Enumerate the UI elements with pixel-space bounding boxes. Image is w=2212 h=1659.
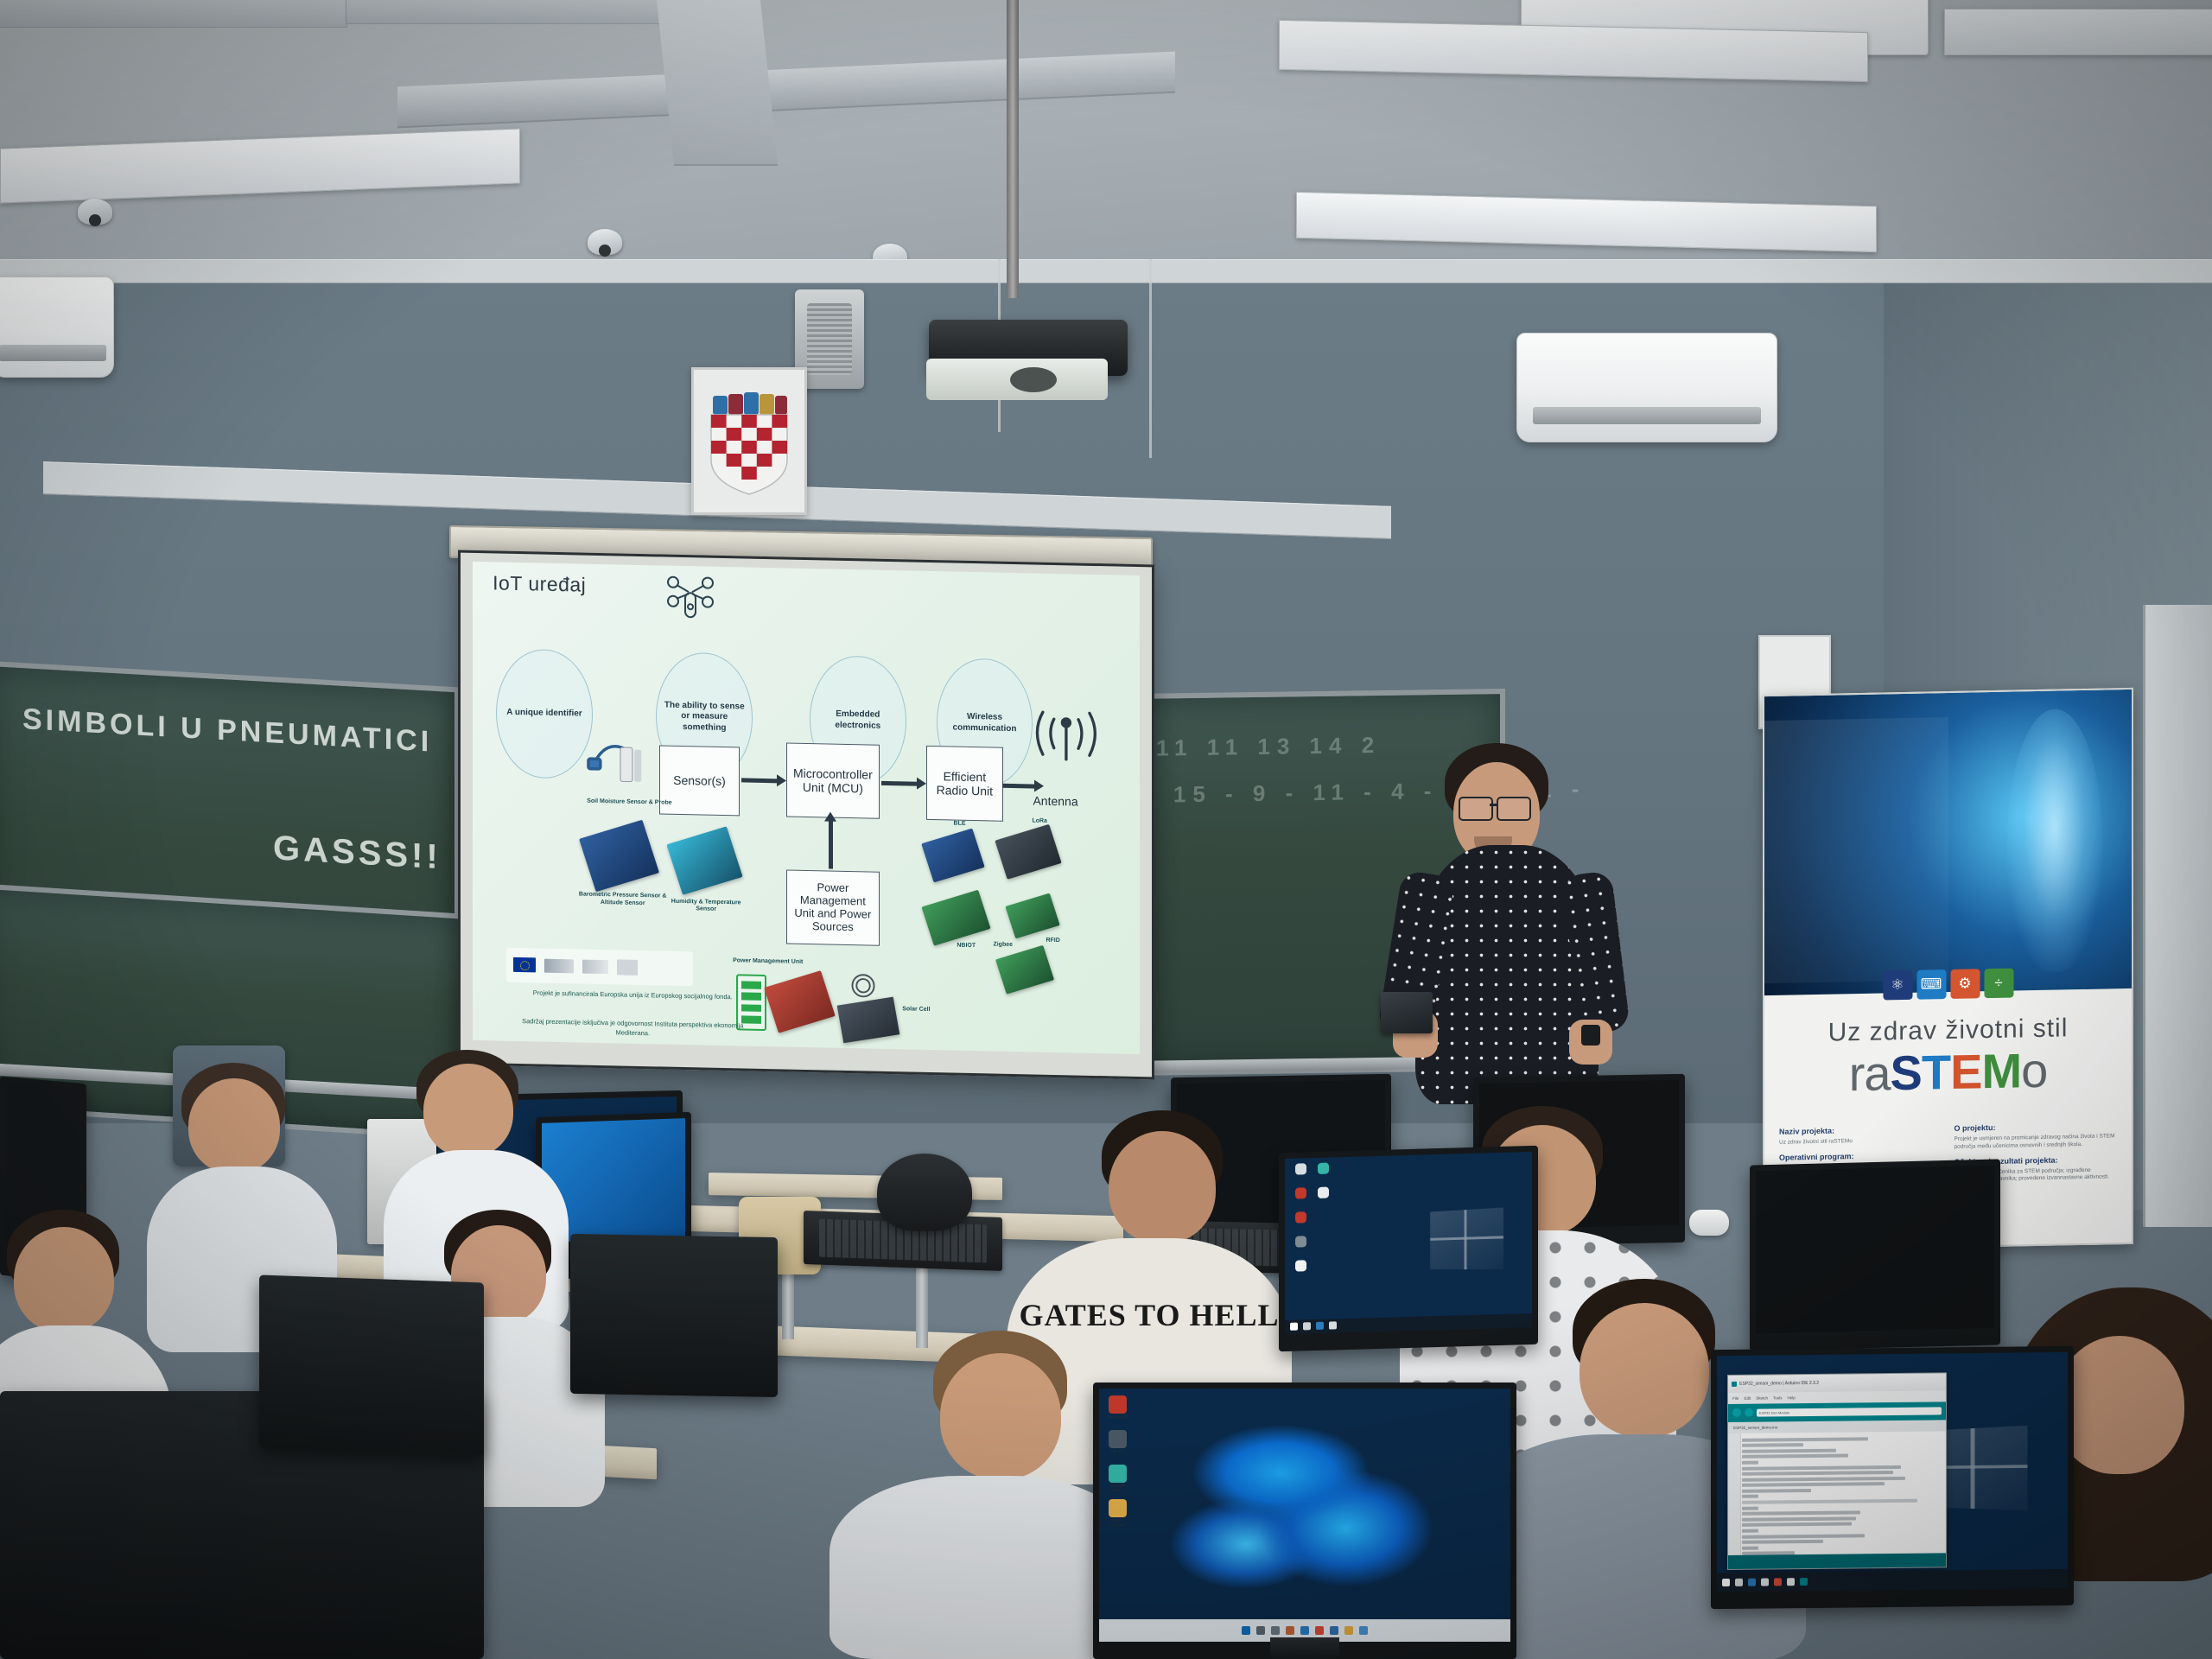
upload-button[interactable] [1745,1408,1753,1417]
arduino-taskbar-icon[interactable] [1800,1578,1808,1586]
menu-file[interactable]: File [1732,1396,1738,1401]
explorer-icon[interactable] [1344,1626,1353,1635]
wall-trim [0,259,2212,283]
monitor-rear-shell [570,1234,778,1397]
desktop-icon[interactable] [1290,1211,1311,1224]
task-view-icon[interactable] [1271,1626,1280,1635]
slide-caption-rfid: RFID [1027,937,1080,945]
slide-antenna-label: Antenna [1033,793,1077,808]
presenter [1400,743,1624,1106]
security-camera-icon [78,199,112,225]
air-conditioner [1516,333,1777,442]
barometric-sensor-image [579,819,659,891]
classroom-door[interactable] [2143,605,2212,1227]
start-icon[interactable] [1242,1626,1250,1635]
edge-icon[interactable] [1748,1578,1756,1586]
slide-caption-zigbee: Zigbee [980,941,1027,950]
slide-caption-ble: BLE [933,820,987,829]
technology-icon: ⌨ [1916,969,1946,1000]
poster-brand: raSTEMo [1764,1040,2132,1103]
poster-heading-about: O projektu: [1955,1121,2118,1133]
board-selector[interactable]: ESP32 Dev Module [1757,1407,1942,1416]
science-icon: ⚛ [1883,970,1912,1001]
stem-icon-row: ⚛ ⌨ ⚙ ÷ [1883,969,2013,1001]
teams-icon[interactable]: Microsoft Teams [1107,1465,1128,1493]
glasses-bridge [1490,804,1498,806]
tshirt-text: GATES TO HELL [1007,1297,1292,1333]
menu-help[interactable]: Help [1787,1395,1795,1400]
start-icon[interactable] [1722,1579,1730,1586]
poster-brand-suffix: o [2021,1043,2047,1098]
ide-toolbar[interactable]: ESP32 Dev Module [1728,1402,1946,1422]
student-head [1580,1303,1709,1437]
ide-code-editor[interactable] [1728,1431,1946,1555]
glasses-left-lens [1459,797,1493,821]
ide-line-numbers [1728,1433,1741,1555]
store-icon[interactable] [1330,1626,1338,1635]
arduino-icon [1732,1382,1737,1387]
blackboard-text-line1: SIMBOLI U PNEUMATICI [22,702,432,760]
croatian-coat-of-arms [691,367,807,515]
desktop-icon[interactable] [1290,1187,1311,1199]
ide-window-title: ESP32_sensor_demo | Arduino IDE 2.3.2 [1739,1381,1819,1387]
headphones[interactable] [877,1154,972,1231]
widgets-icon[interactable] [1286,1626,1294,1635]
this-pc-icon[interactable]: This PC [1107,1430,1128,1454]
monitor-student-right[interactable] [1279,1146,1538,1351]
partner-logo [582,960,608,975]
ceiling-tile [346,0,676,24]
air-conditioner [0,276,114,378]
security-camera-icon [588,229,622,255]
windows10-taskbar[interactable] [1717,1569,2068,1592]
slide-footer-disclaimer: Sadržaj prezentacije isključiva je odgov… [512,1017,753,1041]
poster-heading-program: Operativni program: [1779,1150,1942,1162]
slide-bubble-identifier: A unique identifier [496,648,593,779]
ide-titlebar[interactable]: ESP32_sensor_demo | Arduino IDE 2.3.2 [1728,1373,1946,1393]
poster-brand-e: E [1950,1045,1981,1100]
humidity-sensor-image [666,826,743,895]
eu-funding-logos [506,948,694,987]
coat-of-arms-svg [706,385,792,498]
blackboard-faint-line1: 11 11 13 14 2 [1156,732,1381,762]
slide-caption-soil: Soil Moisture Sensor & Probe [582,798,676,808]
desktop-icon[interactable] [1290,1163,1311,1175]
icon-label: Radni materijali [1107,1519,1128,1528]
eu-flag-icon [513,957,536,973]
app-icon[interactable] [1774,1578,1782,1586]
menu-tools[interactable]: Tools [1773,1396,1783,1401]
student-head [940,1353,1061,1479]
power-cable [1149,259,1152,458]
desktop-icon[interactable] [1313,1162,1333,1174]
poster-body-about: Projekt je usmjeren na promicanje zdravo… [1955,1133,2118,1151]
projector-lens [926,359,1108,400]
projector-mount-pole [1007,0,1019,298]
ceiling-tile [0,0,347,28]
folder-icon[interactable]: Radni materijali [1107,1499,1128,1528]
windows10-desktop[interactable] [1285,1152,1532,1334]
slide-footer-funding: Projekt je sufinancirala Europska unija … [512,988,753,1003]
recycle-bin-icon[interactable]: Recycle Bin [1107,1395,1128,1420]
projection-screen: IoT uređaj A unique identifier The abili… [458,550,1154,1080]
windows11-bloom-wallpaper [1157,1414,1453,1611]
presentation-slide: IoT uređaj A unique identifier The abili… [473,562,1140,1054]
slide-title: IoT uređaj [493,571,586,596]
rfid-module-image [1006,893,1060,938]
windows10-desktop[interactable]: ESP32_sensor_demo | Arduino IDE 2.3.2 Fi… [1717,1352,2068,1592]
mouse[interactable] [1689,1210,1729,1236]
math-icon: ÷ [1984,969,2013,999]
drone-icon [666,575,715,633]
student-head [188,1078,280,1173]
antenna-icon [1016,688,1116,795]
desktop-icon[interactable] [1313,1186,1333,1198]
monitor-stand [1270,1637,1339,1659]
poster-brand-prefix: ra [1849,1046,1891,1102]
student-head [14,1227,114,1332]
ceiling-beam [657,0,778,166]
nbiot-module-image [921,889,991,945]
icon-label: This PC [1107,1450,1128,1454]
ble-module-image [921,828,984,882]
classroom-photo: SIMBOLI U PNEUMATICI GASSS!! 11 11 13 14… [0,0,2212,1659]
poster-hero-image [1764,690,2132,995]
poster-heading-name: Naziv projekta: [1779,1124,1942,1136]
windows11-desktop[interactable]: Recycle Bin This PC Microsoft Teams Radn… [1099,1389,1510,1642]
monitor-arduino-ide[interactable]: ESP32_sensor_demo | Arduino IDE 2.3.2 Fi… [1711,1346,2074,1609]
search-icon[interactable] [1256,1626,1265,1635]
poster-hologram-body-icon [2007,708,2103,972]
windows-logo-icon [1430,1208,1503,1270]
edge-icon[interactable] [1300,1626,1309,1635]
partner-logo [544,959,574,974]
student-head [2055,1336,2184,1474]
slide-box-mcu: Microcontroller Unit (MCU) [786,743,880,819]
ide-status-bar [1728,1553,1946,1568]
slide-caption-lora: LoRa [1013,817,1066,826]
wristwatch [1581,1025,1600,1046]
poster-body-name: Uz zdrav životni stil raSTEMo [1779,1136,1942,1147]
slide-box-radio: Efficient Radio Unit [926,746,1003,822]
engineering-icon: ⚙ [1950,969,1980,999]
poster-brand-t: T [1922,1045,1950,1100]
slide-caption-humidity: Humidity & Temperature Sensor [666,899,747,915]
desktop-icon[interactable] [1290,1236,1311,1248]
poster-brand-m: M [1981,1044,2021,1099]
mail-icon[interactable] [1315,1626,1324,1635]
explorer-icon[interactable] [1761,1578,1769,1586]
icon-label: Microsoft Teams [1107,1484,1128,1493]
slide-caption-solar: Solar Cell [893,1006,939,1014]
lora-module-image [995,824,1061,880]
poster-brand-s: S [1891,1046,1922,1101]
search-icon[interactable] [1735,1578,1743,1586]
partner-logo [617,959,638,976]
settings-icon[interactable] [1359,1626,1368,1635]
windows10-taskbar[interactable] [1285,1313,1532,1334]
iot-demo-device [1381,992,1433,1033]
verify-button[interactable] [1732,1408,1741,1417]
menu-edit[interactable]: Edit [1744,1396,1751,1401]
arrow-mcu-to-radio [881,781,918,786]
slide-box-power: Power Management Unit and Power Sources [786,870,880,946]
arrow-power-to-mcu [829,820,833,869]
blackboard-text-line2: GASSS!! [273,829,442,877]
arduino-ide-window[interactable]: ESP32_sensor_demo | Arduino IDE 2.3.2 Fi… [1727,1372,1947,1570]
slide-caption-pmu: Power Management Unit [733,957,840,967]
solar-cell-image [836,996,899,1043]
ceiling-light [1944,9,2212,55]
desktop-icon[interactable] [1290,1260,1311,1272]
slide-caption-barometric: Barometric Pressure Sensor & Altitude Se… [576,892,670,908]
monitor-rear-shell [259,1274,484,1455]
menu-sketch[interactable]: Sketch [1756,1396,1768,1401]
app-icon[interactable] [1787,1578,1795,1586]
pmu-board-image [764,970,836,1033]
zigbee-module-image [995,944,1054,994]
monitor-foreground-asus[interactable]: Recycle Bin This PC Microsoft Teams Radn… [1093,1382,1516,1659]
arrow-sensors-to-mcu [741,778,779,783]
poster-doctor-figure [1763,717,1948,984]
icon-label: Recycle Bin [1107,1415,1128,1420]
soil-moisture-sensor-image [582,731,663,795]
student-head [423,1064,513,1157]
student-head [1109,1131,1216,1243]
glasses-right-lens [1497,797,1531,821]
